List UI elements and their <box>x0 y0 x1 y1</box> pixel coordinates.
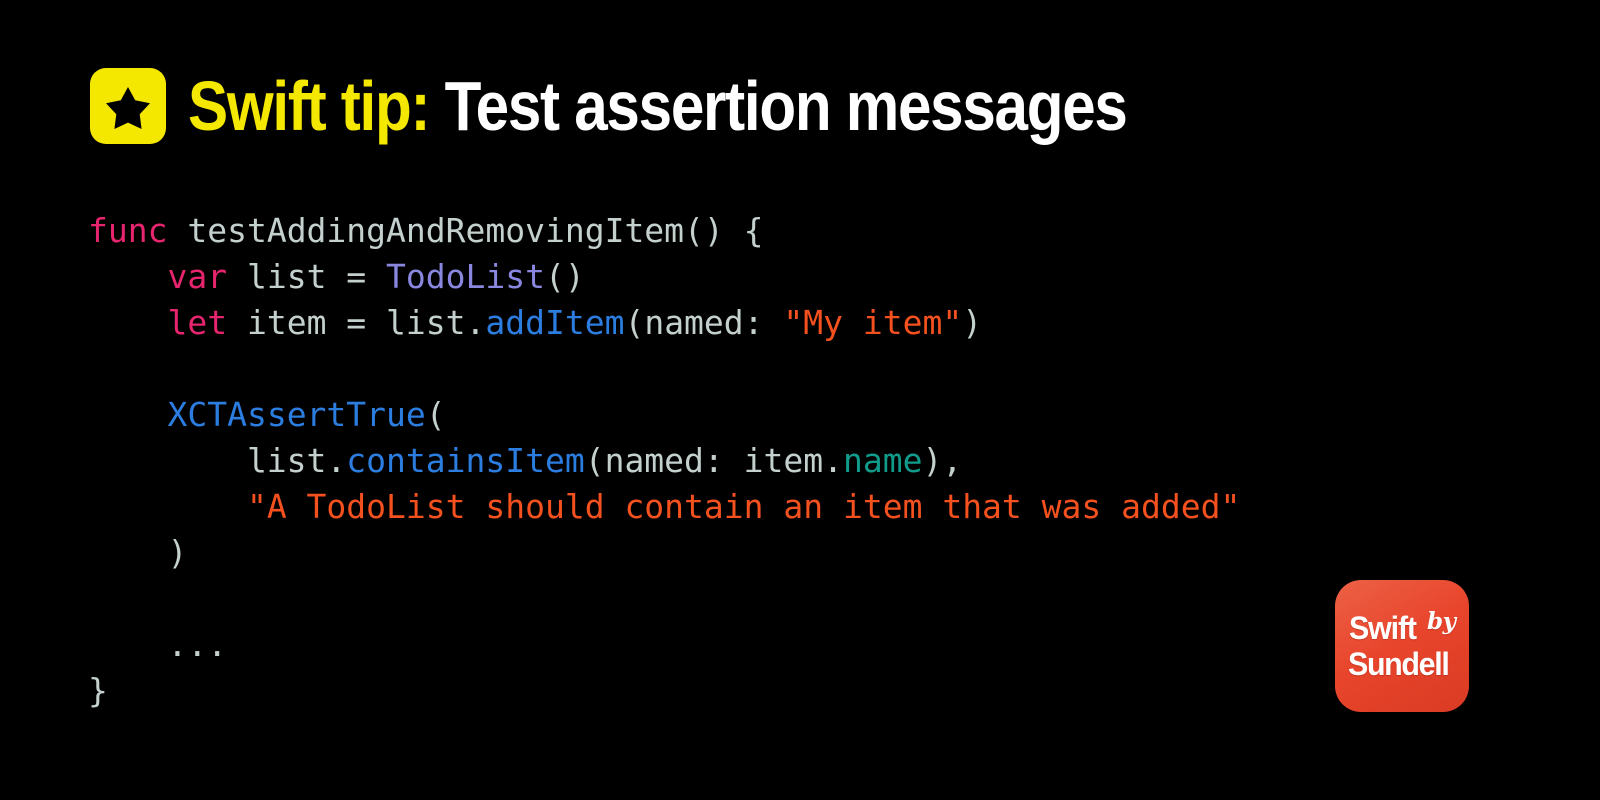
code-token-property: name <box>843 441 922 480</box>
code-line: list.containsItem(named: item.name), <box>88 438 1240 484</box>
code-token-plain: list. <box>88 441 346 480</box>
code-token-plain: () <box>545 257 585 296</box>
code-token-plain: (named: item. <box>585 441 843 480</box>
page-title-main: Test assertion messages <box>445 67 1127 145</box>
code-token-plain: ), <box>922 441 962 480</box>
code-token-plain: testAddingAndRemovingItem() { <box>167 211 763 250</box>
code-line: "A TodoList should contain an item that … <box>88 484 1240 530</box>
code-token-plain: (named: <box>624 303 783 342</box>
code-token-plain: } <box>88 671 108 710</box>
code-token-method: addItem <box>485 303 624 342</box>
code-line <box>88 576 1240 622</box>
code-token-keyword: var <box>167 257 227 296</box>
code-line <box>88 346 1240 392</box>
star-badge-icon <box>90 68 166 144</box>
code-token-plain: list = <box>227 257 386 296</box>
code-token-string: "A TodoList should contain an item that … <box>247 487 1240 526</box>
code-token-plain <box>88 257 167 296</box>
code-token-plain <box>88 487 247 526</box>
code-snippet: func testAddingAndRemovingItem() { var l… <box>88 208 1240 714</box>
code-token-plain <box>88 303 167 342</box>
code-token-method: XCTAssertTrue <box>167 395 425 434</box>
code-token-plain: ) <box>88 533 187 572</box>
page-title: Swift tip: Test assertion messages <box>188 66 1127 146</box>
code-line: ... <box>88 622 1240 668</box>
logo-word-by: by <box>1427 608 1455 635</box>
code-token-plain <box>88 395 167 434</box>
code-token-plain: item = list. <box>227 303 485 342</box>
code-line: ) <box>88 530 1240 576</box>
code-line: } <box>88 668 1240 714</box>
code-token-keyword: let <box>167 303 227 342</box>
code-line: var list = TodoList() <box>88 254 1240 300</box>
code-token-type: TodoList <box>386 257 545 296</box>
code-line: func testAddingAndRemovingItem() { <box>88 208 1240 254</box>
logo-word-sundell: Sundell <box>1348 646 1448 683</box>
code-token-plain: ) <box>962 303 982 342</box>
swift-by-sundell-logo: Swift by Sundell <box>1335 580 1469 712</box>
code-token-method: containsItem <box>346 441 584 480</box>
code-token-plain: ... <box>88 625 227 664</box>
code-token-keyword: func <box>88 211 167 250</box>
logo-word-swift: Swift <box>1349 610 1416 647</box>
code-token-plain: ( <box>426 395 446 434</box>
page-header: Swift tip: Test assertion messages <box>90 60 1279 152</box>
page-title-accent: Swift tip: <box>188 67 429 145</box>
code-token-string: "My item" <box>783 303 962 342</box>
code-line: XCTAssertTrue( <box>88 392 1240 438</box>
code-line: let item = list.addItem(named: "My item"… <box>88 300 1240 346</box>
